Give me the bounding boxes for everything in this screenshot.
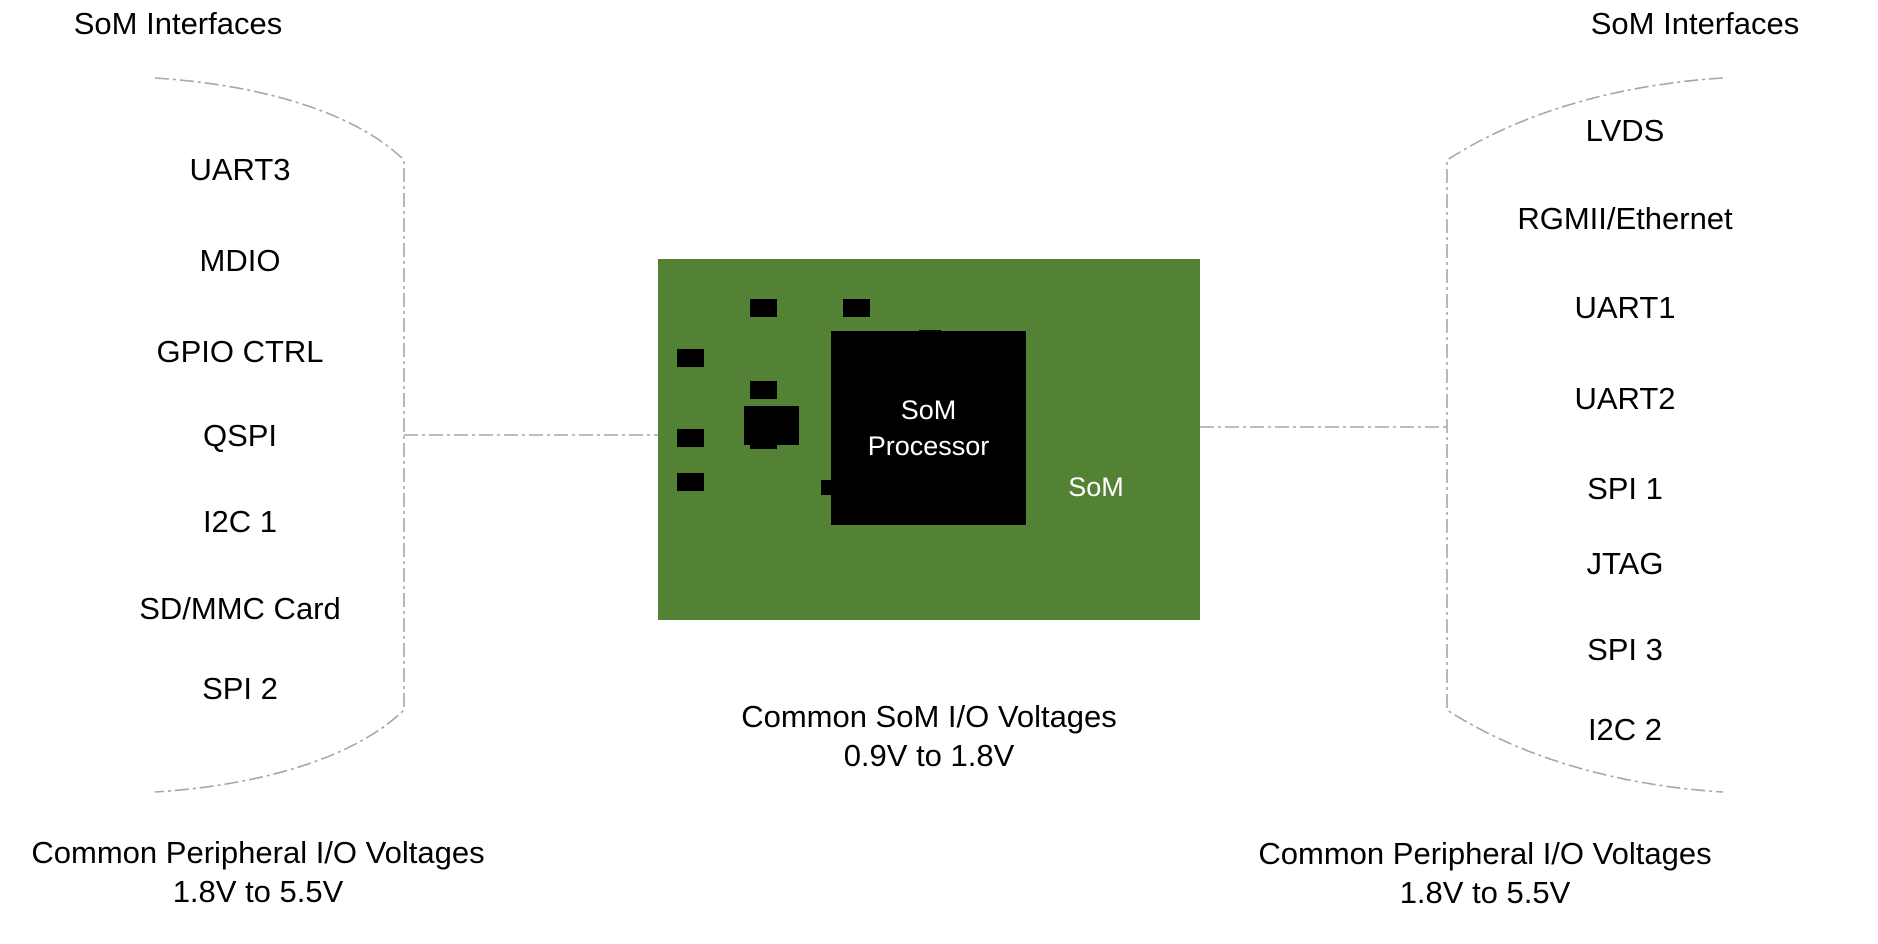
som-processor-chip: SoM Processor (831, 331, 1026, 525)
left-brace (0, 0, 460, 944)
right-iface-0: LVDS (1510, 113, 1740, 149)
left-iface-1: MDIO (130, 243, 350, 279)
center-caption-line2: 0.9V to 1.8V (659, 736, 1199, 775)
right-iface-6: SPI 3 (1510, 632, 1740, 668)
component-edge-left-1 (677, 349, 704, 367)
right-connector-line (1196, 416, 1456, 438)
left-caption-line1: Common Peripheral I/O Voltages (0, 833, 528, 872)
left-caption-line2: 1.8V to 5.5V (0, 872, 528, 911)
left-iface-0: UART3 (130, 152, 350, 188)
component-top-left (750, 299, 777, 317)
som-processor-line2: Processor (868, 428, 990, 464)
right-iface-1: RGMII/Ethernet (1452, 201, 1798, 237)
right-iface-2: UART1 (1510, 290, 1740, 326)
left-iface-4: I2C 1 (130, 504, 350, 540)
right-caption-line2: 1.8V to 5.5V (1090, 873, 1878, 912)
left-iface-6: SPI 2 (130, 671, 350, 707)
component-large-left (744, 406, 799, 445)
right-iface-3b: UART2 (1510, 381, 1740, 417)
component-top-center (843, 299, 870, 317)
diagram-canvas: SoM Interfaces UART3 MDIO GPIO CTRL QSPI… (0, 0, 1878, 944)
left-iface-3: QSPI (130, 418, 350, 454)
som-board-label: SoM (1036, 471, 1156, 503)
left-iface-2: GPIO CTRL (120, 334, 360, 370)
right-caption-line1: Common Peripheral I/O Voltages (1090, 834, 1878, 873)
right-iface-5: JTAG (1510, 546, 1740, 582)
center-caption-line1: Common SoM I/O Voltages (659, 697, 1199, 736)
som-board: SoM Processor SoM (658, 259, 1200, 620)
component-edge-left-3 (677, 473, 704, 491)
som-processor-line1: SoM (901, 392, 957, 428)
right-iface-7: I2C 2 (1510, 712, 1740, 748)
component-edge-left-2 (677, 429, 704, 447)
left-iface-5: SD/MMC Card (110, 591, 370, 627)
right-iface-4: SPI 1 (1510, 471, 1740, 507)
component-mid-left-1 (750, 381, 777, 399)
left-connector-line (400, 424, 670, 446)
